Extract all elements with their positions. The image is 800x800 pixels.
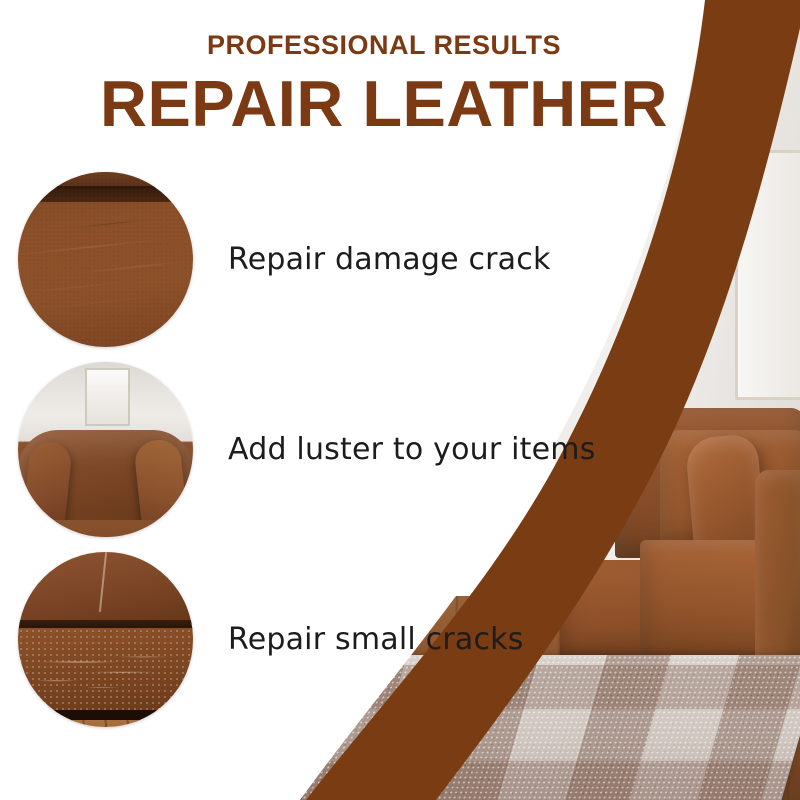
cracked-leather-closeup-thumbnail	[18, 552, 193, 727]
feature-label: Repair damage crack	[228, 242, 551, 277]
leather-texture-closeup-thumbnail	[18, 172, 193, 347]
leather-grain	[18, 172, 193, 347]
leather-sofa-luster-thumbnail	[18, 362, 193, 537]
page-title: REPAIR LEATHER	[0, 70, 768, 138]
wood-floor	[18, 720, 193, 727]
sofa-seat	[18, 520, 193, 537]
feature-item: Repair damage crack	[18, 172, 638, 347]
white-wall-panel	[735, 150, 800, 400]
feature-item: Add luster to your items	[18, 362, 638, 537]
feature-label: Add luster to your items	[228, 432, 596, 467]
eyebrow-text: PROFESSIONAL RESULTS	[0, 30, 768, 61]
feature-item: Repair small cracks	[18, 552, 638, 727]
product-banner: PROFESSIONAL RESULTS REPAIR LEATHER Repa…	[0, 0, 800, 800]
window-frame	[85, 368, 131, 426]
leather-cracks	[18, 628, 193, 713]
sofa-armrest	[755, 470, 800, 670]
feature-label: Repair small cracks	[228, 622, 524, 657]
